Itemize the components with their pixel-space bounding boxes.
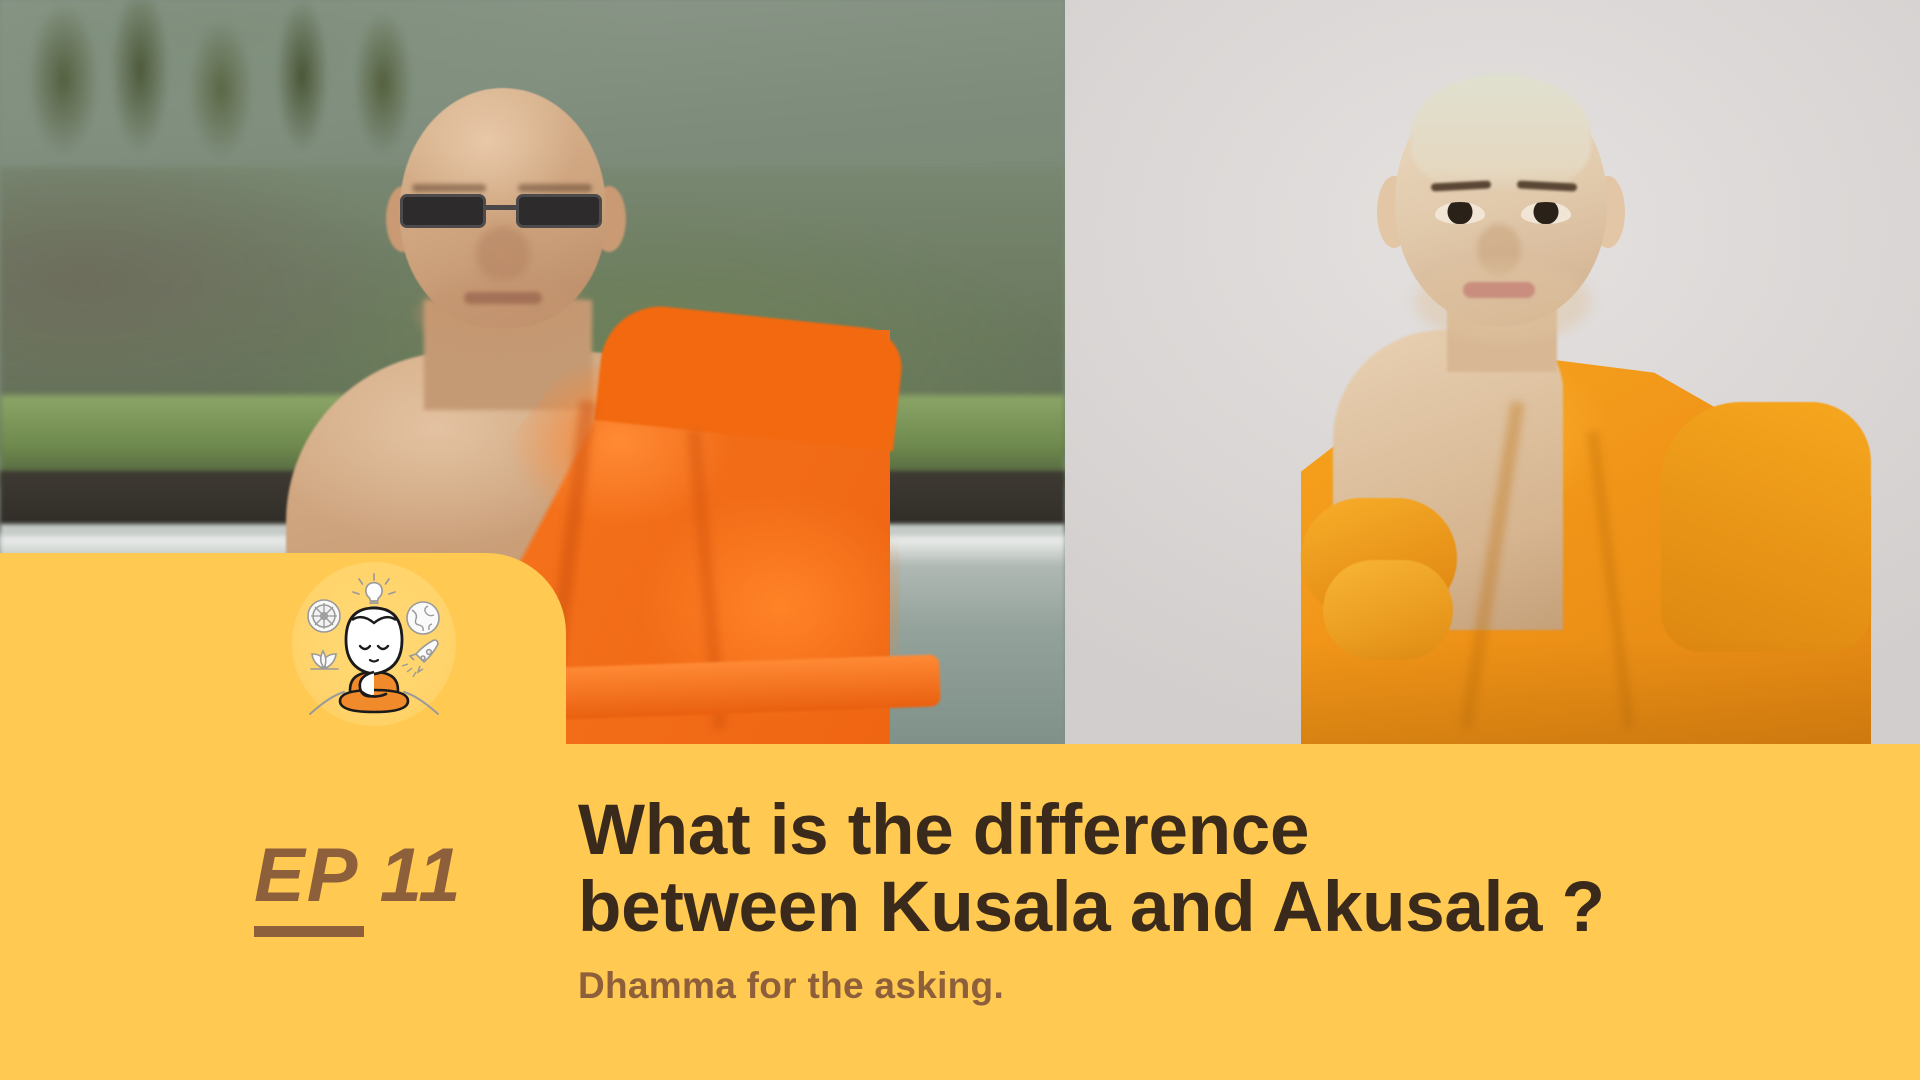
- left-photo-trees: [21, 0, 447, 198]
- novice-monk-lips: [1463, 282, 1535, 298]
- adult-monk-nose: [476, 226, 530, 282]
- logo-panel: [0, 553, 566, 763]
- eyeglass-lens-right: [516, 194, 602, 228]
- novice-monk-robe-sleeve: [1661, 402, 1871, 652]
- brand-logo[interactable]: [292, 562, 456, 726]
- photo-right-novice-monk: [1065, 0, 1920, 760]
- thumbnail-canvas: TRUE LITTLE MONK EP 11 What is the diffe…: [0, 0, 1920, 1080]
- title-line-2: between Kusala and Akusala ?: [578, 869, 1898, 946]
- title-block: What is the difference between Kusala an…: [578, 792, 1898, 1007]
- adult-monk-brow-right: [518, 184, 592, 192]
- episode-block: EP 11: [254, 838, 514, 937]
- novice-monk-robe-shadow: [1301, 640, 1871, 760]
- novice-monk-eye-right: [1521, 202, 1571, 224]
- episode-label: EP 11: [254, 838, 514, 914]
- subtitle: Dhamma for the asking.: [578, 965, 1898, 1007]
- novice-monk-eye-left: [1435, 202, 1485, 224]
- novice-monk-chin: [1415, 262, 1591, 342]
- eyeglass-bridge: [486, 205, 518, 210]
- adult-monk-brow-left: [412, 184, 486, 192]
- meditating-monk-logo-icon: [292, 562, 456, 726]
- title-line-1: What is the difference: [578, 792, 1898, 869]
- adult-monk-mouth: [464, 292, 542, 304]
- eyeglass-lens-left: [400, 194, 486, 228]
- episode-underline: [254, 926, 364, 937]
- novice-monk-shaved-head: [1411, 74, 1591, 194]
